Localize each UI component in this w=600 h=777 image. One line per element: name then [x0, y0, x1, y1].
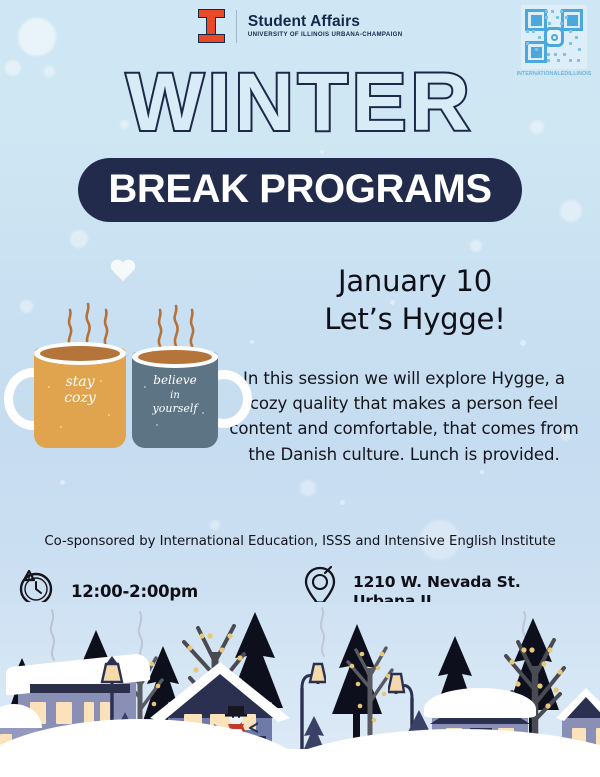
- brand-header: Student Affairs UNIVERSITY OF ILLINOIS U…: [0, 9, 600, 43]
- mug-left-label: stay cozy: [34, 374, 126, 406]
- mug-stay-cozy: stay cozy: [26, 342, 138, 450]
- cosponsor-line: Co-sponsored by International Education,…: [0, 534, 600, 549]
- mugs-illustration: believe in yourself stay cozy: [14, 300, 229, 480]
- winter-break-flyer: Student Affairs UNIVERSITY OF ILLINOIS U…: [0, 0, 600, 777]
- steam-right: [154, 304, 202, 348]
- page-title-winter: WINTER: [0, 62, 600, 144]
- break-programs-banner: BREAK PROGRAMS: [0, 158, 600, 222]
- heart-bokeh: [110, 260, 136, 284]
- instagram-glyph-icon: [544, 27, 564, 47]
- event-name: Let’s Hygge!: [250, 300, 580, 338]
- header-divider: [236, 10, 237, 43]
- event-heading: January 10 Let’s Hygge!: [250, 262, 580, 339]
- mug-right-label: believe in yourself: [132, 374, 218, 415]
- university-subtitle: UNIVERSITY OF ILLINOIS URBANA-CHAMPAIGN: [248, 32, 403, 38]
- event-description: In this session we will explore Hygge, a…: [228, 366, 580, 467]
- page-title-break-programs: BREAK PROGRAMS: [108, 169, 491, 209]
- event-date: January 10: [250, 262, 580, 300]
- student-affairs-title: Student Affairs: [248, 14, 403, 30]
- mug-believe-in-yourself: believe in yourself: [132, 346, 232, 448]
- instagram-qr-code-icon[interactable]: [521, 5, 587, 69]
- illinois-block-i-logo: [198, 9, 225, 43]
- steam-left: [62, 300, 122, 348]
- time-text: 12:00-2:00pm: [71, 582, 198, 601]
- winter-village-illustration: [0, 602, 600, 777]
